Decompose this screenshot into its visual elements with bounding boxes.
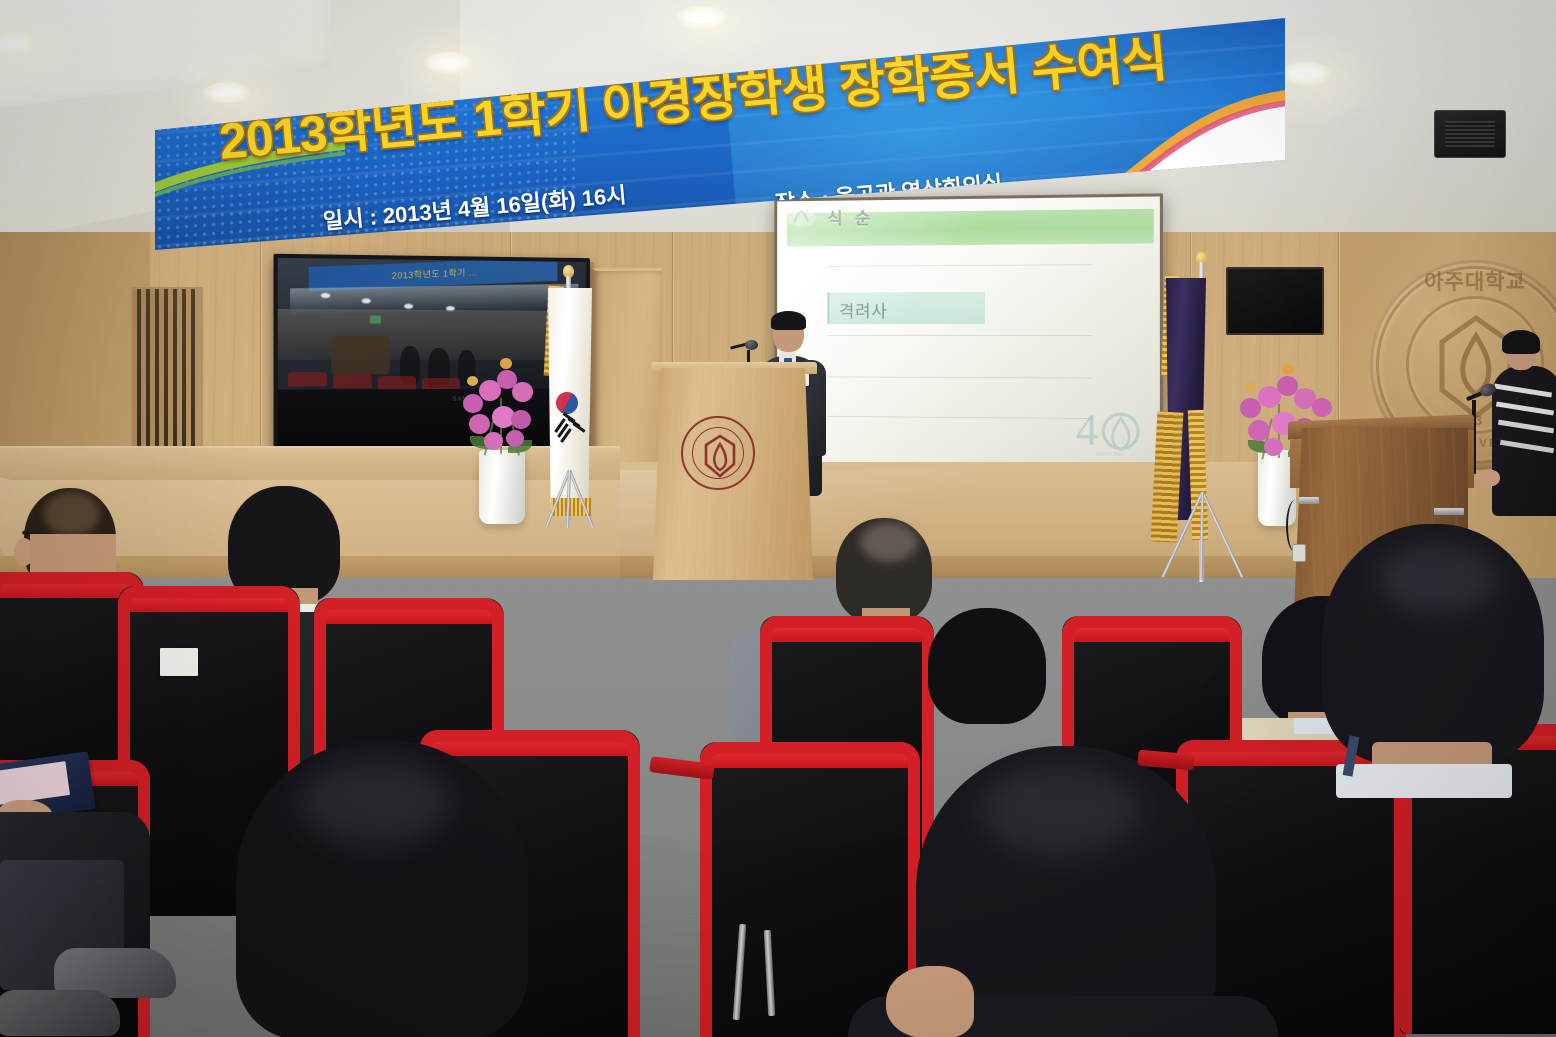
audience-scalp-sheen <box>980 766 1140 856</box>
slide-logo-icon <box>785 206 818 230</box>
mc-hair <box>1502 330 1540 354</box>
slide-active-item: 격려사 <box>827 292 985 324</box>
monitor-reflected-seating <box>378 376 416 390</box>
orchid-petal <box>506 430 524 447</box>
ajou-40th-anniversary-logo: 4 AJOU UNIV. <box>1076 404 1142 457</box>
orchid-petal <box>484 432 503 450</box>
projection-screen-frame: 식 순 격려사 4 AJOU UNIV. <box>774 193 1163 470</box>
ajou-seal-flame-icon <box>702 434 738 478</box>
lectern-hinge <box>1434 508 1464 515</box>
audience-hand-foreground <box>886 966 974 1037</box>
wall-monitor: 2013학년도 1학기 ... SAMSUNG <box>274 254 590 472</box>
svg-text:4: 4 <box>1076 405 1099 454</box>
slide-divider <box>827 335 1092 336</box>
monitor-reflected-seating <box>333 374 372 388</box>
podium-microphone-head <box>745 340 758 350</box>
downlight-icon <box>676 6 728 30</box>
orchid-bud <box>500 358 512 369</box>
audience-scalp-sheen <box>1378 544 1498 614</box>
lectern-hinge <box>1299 497 1319 504</box>
power-plug <box>1292 544 1306 562</box>
orchid-petal <box>1312 398 1332 417</box>
downlight-icon <box>203 82 251 104</box>
orchid-petal <box>512 382 533 402</box>
audience-scalp-sheen <box>300 760 450 844</box>
podium-university-seal <box>681 416 755 490</box>
audience-scalp-highlight <box>44 492 100 536</box>
speaker-hair <box>771 311 806 330</box>
orchid-bud <box>467 376 478 386</box>
monitor-reflected-light <box>321 293 330 298</box>
audience-head-between <box>928 608 1046 724</box>
audience-scalp-highlight <box>860 522 918 562</box>
downlight-icon <box>424 52 472 74</box>
orchid-petal <box>511 410 531 429</box>
orchid-petal <box>1248 420 1270 441</box>
ceiling-speaker <box>1434 110 1506 158</box>
slide-divider <box>827 264 1092 267</box>
downlight-icon <box>1280 62 1332 86</box>
projection-screen: 식 순 격려사 4 AJOU UNIV. <box>777 196 1160 467</box>
slide-divider <box>827 376 1092 378</box>
mc-hand <box>1478 470 1500 486</box>
auditorium-scene: 아주대학교 1973 AJOU UNIVERSITY 식 순 격려사 4 <box>0 0 1556 1037</box>
slide-active-item-label: 격려사 <box>839 297 888 322</box>
slide-header-title: 식 순 <box>827 204 874 229</box>
slide-divider <box>827 416 1092 419</box>
emblem-korean-text: 아주대학교 <box>1404 266 1546 296</box>
orchid-bud <box>1245 382 1256 392</box>
speaker-podium <box>653 368 813 580</box>
svg-text:AJOU UNIV.: AJOU UNIV. <box>1096 451 1124 457</box>
audience-collar-foreground-right <box>1336 764 1512 798</box>
seat-number-label <box>160 648 198 676</box>
stage-back-riser <box>0 446 620 480</box>
orchid-petal <box>1264 438 1283 456</box>
wall-mounted-speaker <box>1226 267 1324 335</box>
monitor-reflected-seating <box>288 372 327 386</box>
monitor-reflected-light <box>362 298 371 303</box>
orchid-bud <box>1282 364 1294 375</box>
flower-vase-left <box>479 450 525 524</box>
orchid-petal <box>469 414 490 434</box>
orchid-petal <box>463 394 483 413</box>
monitor-reflected-podium <box>331 336 390 375</box>
monitor-reflected-light <box>404 304 413 309</box>
